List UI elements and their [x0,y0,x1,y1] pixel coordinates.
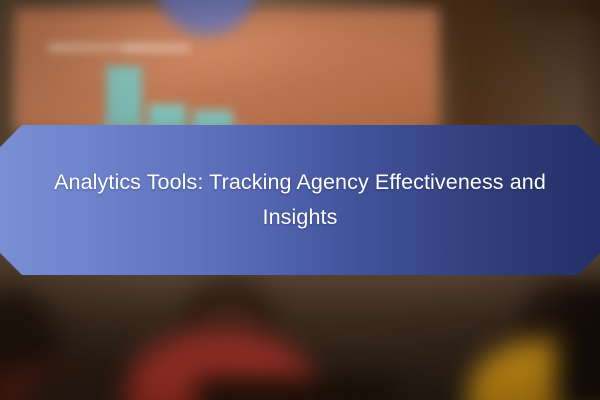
slide-headline-blur-2 [122,44,190,52]
screenshot-root: Analytics Tools: Tracking Agency Effecti… [0,0,600,400]
title-banner: Analytics Tools: Tracking Agency Effecti… [0,125,600,275]
slide-chart-bar [106,66,142,128]
table-edge [196,378,396,400]
banner-title-text: Analytics Tools: Tracking Agency Effecti… [50,165,550,235]
